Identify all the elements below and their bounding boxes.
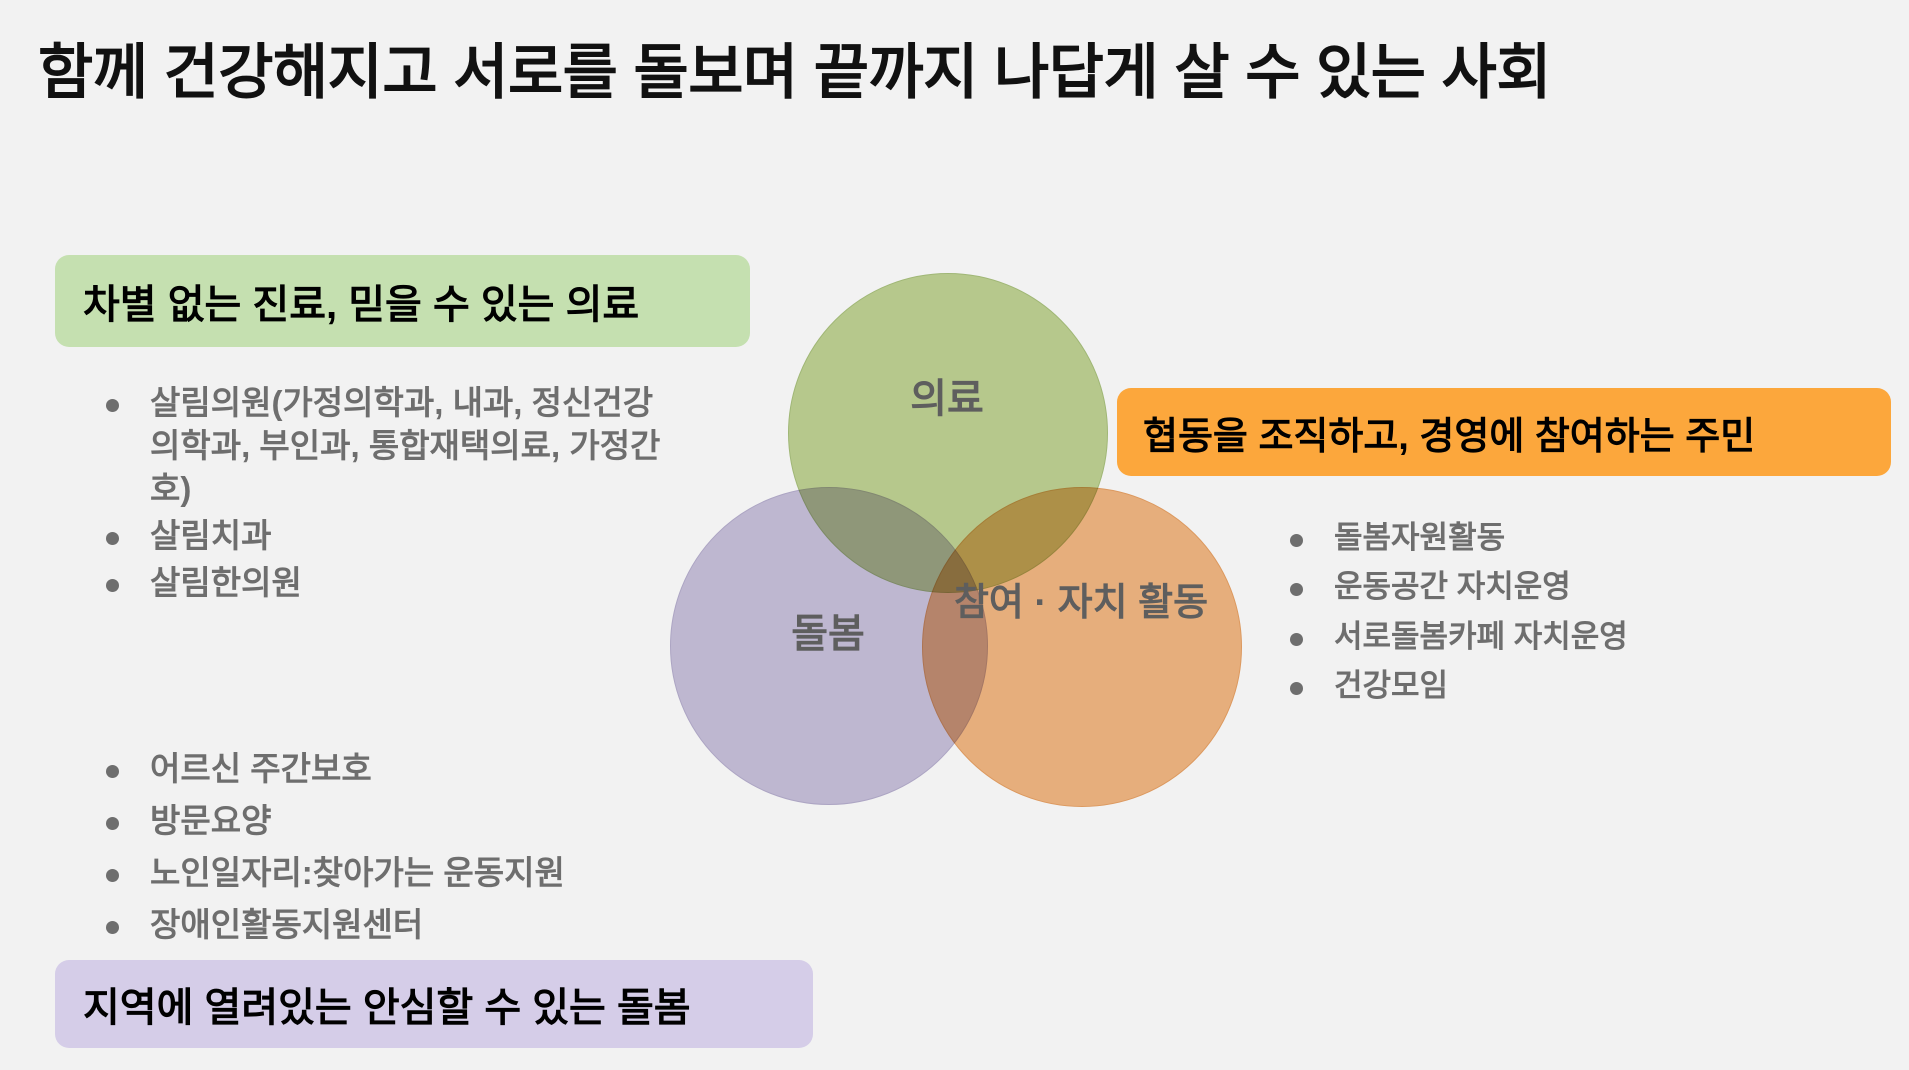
list-item: 어르신 주간보호 — [78, 748, 718, 791]
bullet-dot-icon — [1290, 682, 1303, 695]
page-title: 함께 건강해지고 서로를 돌보며 끝까지 나답게 살 수 있는 사회 — [38, 38, 1878, 107]
list-medical: 살림의원(가정의학과, 내과, 정신건강의학과, 부인과, 통합재택의료, 가정… — [78, 382, 678, 608]
bullet-dot-icon — [106, 579, 119, 592]
label-care-text: 지역에 열려있는 안심할 수 있는 돌봄 — [83, 975, 691, 1033]
list-item-text: 운동공간 자치운영 — [1334, 569, 1571, 604]
list-item: 장애인활동지원센터 — [78, 904, 718, 947]
list-item: 살림의원(가정의학과, 내과, 정신건강의학과, 부인과, 통합재택의료, 가정… — [78, 382, 678, 511]
list-item-text: 살림한의원 — [150, 564, 302, 601]
label-medical-text: 차별 없는 진료, 믿을 수 있는 의료 — [83, 272, 639, 330]
list-item-text: 살림의원(가정의학과, 내과, 정신건강의학과, 부인과, 통합재택의료, 가정… — [150, 384, 660, 507]
bullet-dot-icon — [106, 532, 119, 545]
list-item: 건강모임 — [1262, 666, 1862, 706]
list-participation: 돌봄자원활동 운동공간 자치운영 서로돌봄카페 자치운영 건강모임 — [1262, 518, 1862, 715]
list-item: 방문요양 — [78, 800, 718, 843]
list-item: 운동공간 자치운영 — [1262, 567, 1862, 607]
list-item: 노인일자리:찾아가는 운동지원 — [78, 852, 718, 895]
list-item-text: 방문요양 — [150, 802, 271, 839]
bullet-dot-icon — [1290, 534, 1303, 547]
list-item-text: 서로돌봄카페 자치운영 — [1334, 619, 1628, 654]
list-item: 살림한의원 — [78, 562, 678, 605]
list-item-text: 어르신 주간보호 — [150, 750, 372, 787]
list-item-text: 건강모임 — [1334, 668, 1448, 703]
bullet-dot-icon — [106, 817, 119, 830]
list-item: 살림치과 — [78, 515, 678, 558]
list-item: 서로돌봄카페 자치운영 — [1262, 617, 1862, 657]
list-care: 어르신 주간보호 방문요양 노인일자리:찾아가는 운동지원 장애인활동지원센터 — [78, 748, 718, 956]
label-care: 지역에 열려있는 안심할 수 있는 돌봄 — [55, 960, 813, 1048]
list-item-text: 장애인활동지원센터 — [150, 906, 423, 943]
list-item-text: 노인일자리:찾아가는 운동지원 — [150, 854, 565, 891]
bullet-dot-icon — [1290, 633, 1303, 646]
list-item: 돌봄자원활동 — [1262, 518, 1862, 558]
label-medical: 차별 없는 진료, 믿을 수 있는 의료 — [55, 255, 750, 347]
bullet-dot-icon — [1290, 583, 1303, 596]
venn-circle-participation — [922, 487, 1242, 807]
bullet-dot-icon — [106, 765, 119, 778]
slide-canvas: 함께 건강해지고 서로를 돌보며 끝까지 나답게 살 수 있는 사회 차별 없는… — [0, 0, 1909, 1070]
venn-diagram: 의료 돌봄 참여 · 자치 활동 — [650, 255, 1270, 820]
bullet-dot-icon — [106, 921, 119, 934]
bullet-dot-icon — [106, 869, 119, 882]
bullet-dot-icon — [106, 399, 119, 412]
list-item-text: 살림치과 — [150, 517, 271, 554]
list-item-text: 돌봄자원활동 — [1334, 520, 1505, 555]
